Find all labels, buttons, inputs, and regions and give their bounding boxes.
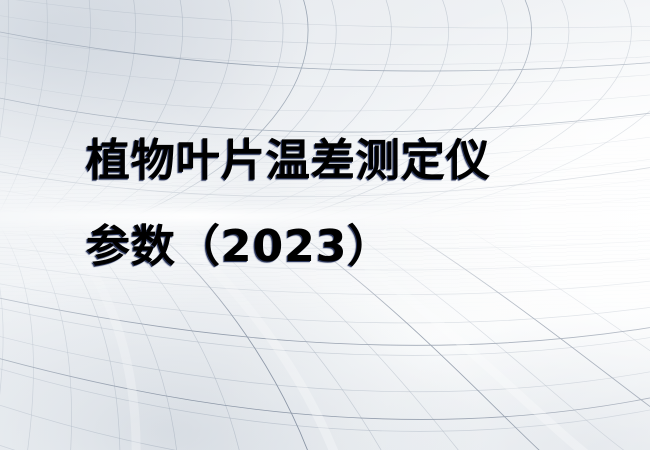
slide-title-line-1: 植物叶片温差测定仪 (86, 118, 606, 204)
slide-title-line-2: 参数（2023） (86, 204, 606, 290)
slide-title: 植物叶片温差测定仪 参数（2023） (86, 118, 606, 290)
title-slide: 植物叶片温差测定仪 参数（2023） (0, 0, 650, 450)
